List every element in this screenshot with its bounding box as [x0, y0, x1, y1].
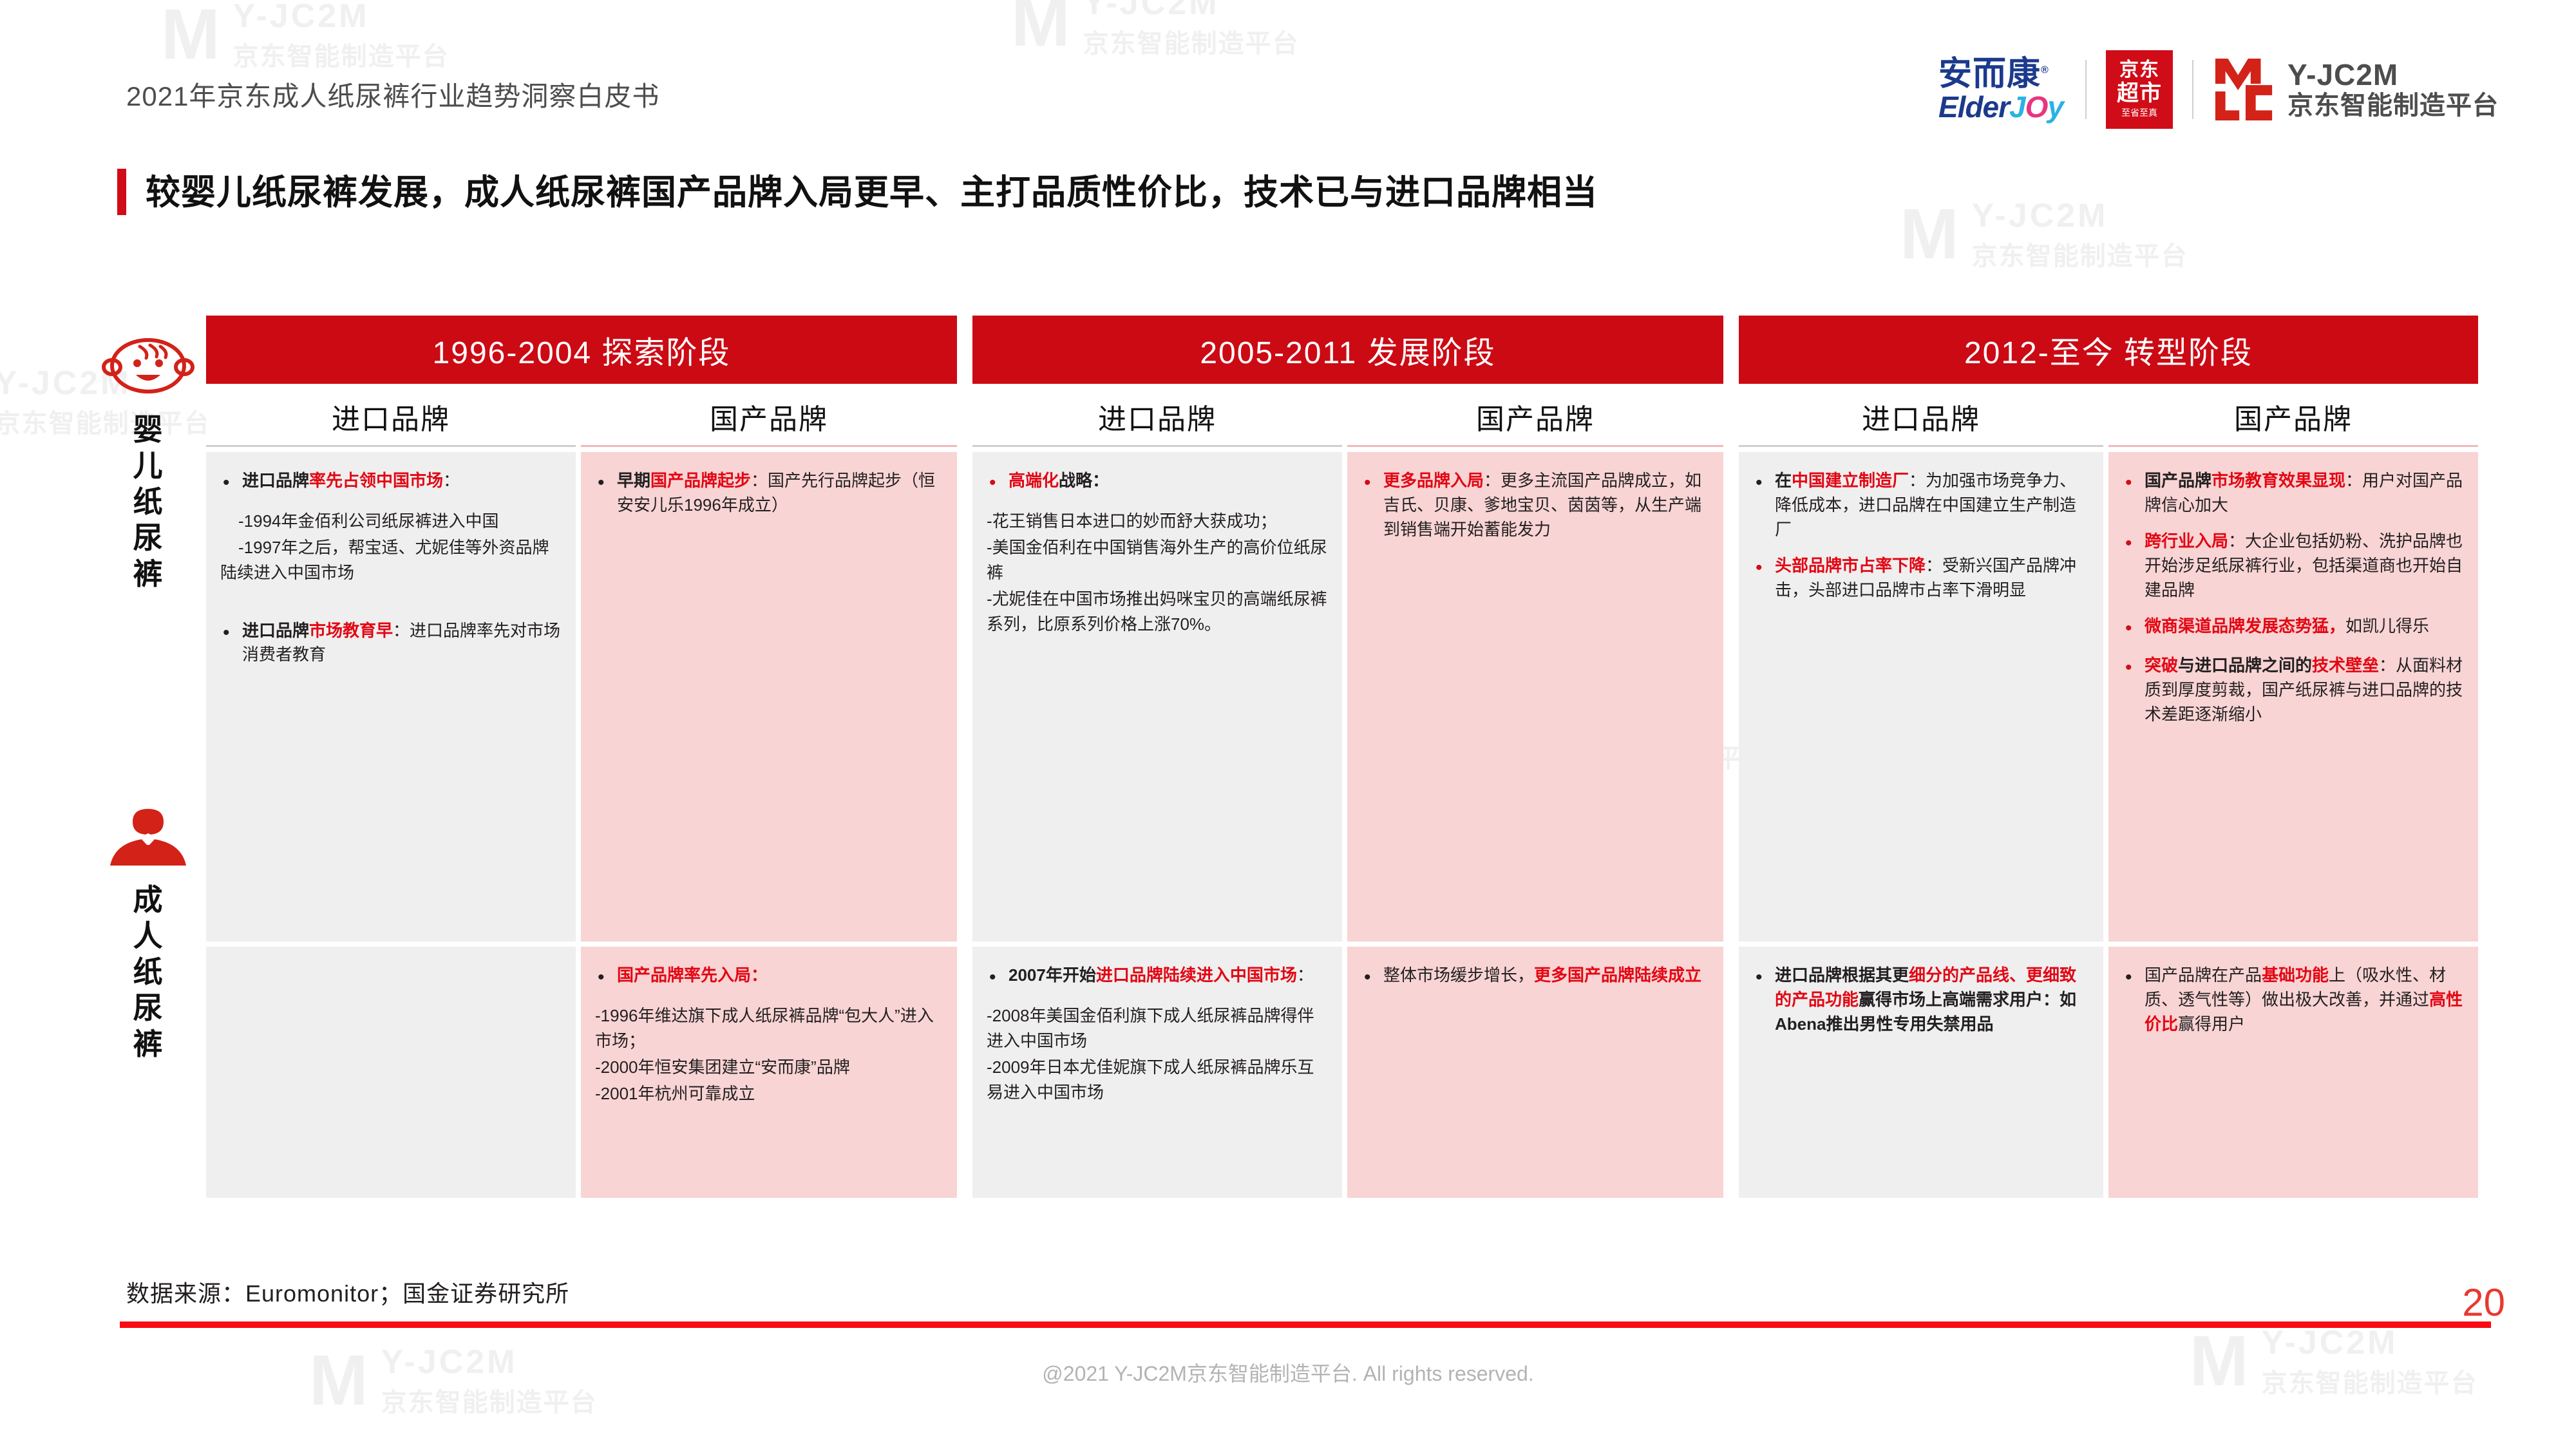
bullet-highlight: 更多品牌入局 [1383, 471, 1484, 490]
bullet-item: • 进口品牌根据其更细分的产品线、更细致的产品功能赢得市场上高端需求用户：如Ab… [1753, 963, 2089, 1037]
bullet-dot-icon: • [1361, 963, 1383, 992]
detail-line: -1996年维达旗下成人纸尿裤品牌“包大人”进入市场； [595, 1003, 943, 1054]
phase-column-2: 2005-2011 发展阶段 进口品牌 国产品牌 • 高端化战略： -花王销售日… [972, 316, 1723, 1198]
elderjoy-cn-text: 安而康 [1938, 55, 2041, 93]
bullet-item: • 微商渠道品牌发展态势猛，如凯儿得乐 [2123, 614, 2464, 643]
detail-line: -2009年日本尤佳妮旗下成人纸尿裤品牌乐互易进入中国市场 [987, 1055, 1328, 1105]
page-number: 20 [2462, 1280, 2505, 1325]
subheader-import-3: 进口品牌 [1739, 388, 2103, 447]
bullet-highlight: 微商渠道品牌发展态势猛， [2145, 616, 2345, 636]
bullet-dot-icon: • [2123, 654, 2145, 727]
headline-accent-bar [117, 169, 126, 215]
detail-lines: -2008年美国金佰利旗下成人纸尿裤品牌得伴进入中国市场 -2009年日本尤佳妮… [987, 1003, 1328, 1105]
cell-baby-domestic-2: • 更多品牌入局：更多主流国产品牌成立，如吉氏、贝康、爹地宝贝、茵茵等，从生产端… [1347, 452, 1723, 942]
cell-adult-domestic-1: • 国产品牌率先入局： -1996年维达旗下成人纸尿裤品牌“包大人”进入市场； … [581, 947, 957, 1198]
bullet-dot-icon: • [595, 963, 617, 992]
bullet-dot-icon: • [2123, 963, 2145, 1037]
watermark-en: Y-JC2M [1972, 196, 2188, 235]
yjc2m-logo: Y-JC2M 京东智能制造平台 [2213, 56, 2499, 123]
detail-lines: -花王销售日本进口的妙而舒大获成功； -美国金佰利在中国销售海外生产的高价位纸尿… [987, 509, 1328, 637]
jd-logo-line2: 超市 [2117, 81, 2162, 106]
bullet-dot-icon: • [220, 619, 242, 668]
subheader-domestic-1: 国产品牌 [581, 388, 957, 447]
bullet-lead: 早期 [617, 471, 650, 490]
bullet-dot-icon: • [595, 469, 617, 518]
bullet-item: • 国产品牌率先入局： [595, 963, 943, 992]
bullet-lead: 进口品牌 [242, 471, 309, 490]
bullet-highlight: 进口品牌陆续进入中国市场 [1096, 965, 1297, 985]
phase-column-3: 2012-至今 转型阶段 进口品牌 国产品牌 • 在中国建立制造厂：为加强市场竞… [1739, 316, 2478, 1198]
watermark-cn: 京东智能制造平台 [1972, 235, 2188, 272]
subheader-domestic-2: 国产品牌 [1347, 388, 1723, 447]
yjc2m-mark-icon [2213, 56, 2276, 123]
bullet-item: • 国产品牌市场教育效果显现：用户对国产品牌信心加大 [2123, 469, 2464, 518]
headline: 较婴儿纸尿裤发展，成人纸尿裤国产品牌入局更早、主打品质性价比，技术已与进口品牌相… [117, 169, 1598, 215]
bullet-item: • 头部品牌市占率下降：受新兴国产品牌冲击，头部进口品牌市占率下滑明显 [1753, 554, 2089, 603]
subheader-domestic-3: 国产品牌 [2108, 388, 2478, 447]
detail-lines: -1994年金佰利公司纸尿裤进入中国 -1997年之后，帮宝适、尤妮佳等外资品牌… [220, 509, 562, 585]
bullet-dot-icon: • [987, 469, 1009, 497]
cell-adult-import-3: • 进口品牌根据其更细分的产品线、更细致的产品功能赢得市场上高端需求用户：如Ab… [1739, 947, 2103, 1198]
cell-baby-domestic-3: • 国产品牌市场教育效果显现：用户对国产品牌信心加大 • 跨行业入局：大企业包括… [2108, 452, 2478, 942]
cell-baby-domestic-1: • 早期国产品牌起步：国产先行品牌起步（恒安安儿乐1996年成立） [581, 452, 957, 942]
row-label-baby-text: 婴儿纸尿裤 [128, 412, 169, 592]
bullet-lead: 在 [1775, 471, 1792, 490]
document-header: 2021年京东成人纸尿裤行业趋势洞察白皮书 安而康® ElderJOy 京东 超… [0, 0, 2576, 124]
bullet-highlight: 基础功能 [2262, 965, 2329, 985]
detail-lines: -1996年维达旗下成人纸尿裤品牌“包大人”进入市场； -2000年恒安集团建立… [595, 1003, 943, 1106]
yjc2m-en-text: Y-JC2M [2287, 59, 2499, 92]
cell-adult-domestic-3: • 国产品牌在产品基础功能上（吸水性、材质、透气性等）做出极大改善，并通过高性价… [2108, 947, 2478, 1198]
phase-comparison-board: 1996-2004 探索阶段 进口品牌 国产品牌 • 进口品牌率先占领中国市场：… [206, 316, 2491, 1198]
detail-line: -1997年之后，帮宝适、尤妮佳等外资品牌陆续进入中国市场 [220, 535, 562, 585]
bullet-highlight-b: 技术壁垒 [2312, 656, 2379, 675]
detail-line: -1994年金佰利公司纸尿裤进入中国 [220, 509, 562, 534]
cell-adult-import-2: • 2007年开始进口品牌陆续进入中国市场： -2008年美国金佰利旗下成人纸尿… [972, 947, 1342, 1198]
bullet-highlight-a: 突破 [2145, 656, 2178, 675]
bullet-lead: 国产品牌 [2145, 471, 2211, 490]
subheader-import-1: 进口品牌 [206, 388, 576, 447]
cell-adult-domestic-2: • 整体市场缓步增长，更多国产品牌陆续成立 [1347, 947, 1723, 1198]
bullet-highlight: 中国建立制造厂 [1792, 471, 1909, 490]
bullet-dot-icon: • [1753, 963, 1775, 1037]
bullet-item: • 突破与进口品牌之间的技术壁垒：从面料材质到厚度剪裁，国产纸尿裤与进口品牌的技… [2123, 654, 2464, 727]
row-label-adult: 成人纸尿裤 [90, 805, 206, 1063]
bullet-highlight: 高端化 [1009, 471, 1059, 490]
bullet-dot-icon: • [2123, 614, 2145, 643]
bullet-highlight: 国产品牌起步 [650, 471, 751, 490]
bullet-tail: ： [443, 471, 460, 490]
watermark-en: Y-JC2M [2262, 1323, 2478, 1362]
detail-line: -花王销售日本进口的妙而舒大获成功； [987, 509, 1328, 534]
elderjoy-en-text: Elder [1938, 90, 2009, 124]
logo-divider [2192, 60, 2193, 119]
bullet-item: • 整体市场缓步增长，更多国产品牌陆续成立 [1361, 963, 1709, 992]
bullet-tail: 赢得用户 [2178, 1014, 2245, 1034]
data-source-note: 数据来源：Euromonitor；国金证券研究所 [126, 1275, 569, 1309]
bullet-highlight: 更多国产品牌陆续成立 [1534, 965, 1701, 985]
bullet-dot-icon: • [987, 963, 1009, 992]
watermark: M Y-JC2M京东智能制造平台 [1900, 193, 2188, 275]
elderjoy-o-glyph: O [2025, 90, 2048, 124]
bullet-item: • 跨行业入局：大企业包括奶粉、洗护品牌也开始涉足纸尿裤行业，包括渠道商也开始自… [2123, 529, 2464, 603]
bullet-item: • 国产品牌在产品基础功能上（吸水性、材质、透气性等）做出极大改善，并通过高性价… [2123, 963, 2464, 1037]
bullet-highlight: 头部品牌市占率下降 [1775, 556, 1926, 575]
elderjoy-y-glyph: y [2047, 90, 2063, 124]
row-labels: 婴儿纸尿裤 成人纸尿裤 [90, 335, 206, 1062]
bullet-dot-icon: • [2123, 469, 2145, 518]
bullet-lead: 进口品牌 [242, 621, 309, 640]
bullet-item: • 更多品牌入局：更多主流国产品牌成立，如吉氏、贝康、爹地宝贝、茵茵等，从生产端… [1361, 469, 1709, 542]
headline-text: 较婴儿纸尿裤发展，成人纸尿裤国产品牌入局更早、主打品质性价比，技术已与进口品牌相… [146, 169, 1598, 215]
row-label-adult-text: 成人纸尿裤 [128, 882, 169, 1063]
bullet-item: • 早期国产品牌起步：国产先行品牌起步（恒安安儿乐1996年成立） [595, 469, 943, 518]
bullet-highlight: 国产品牌率先入局： [617, 965, 768, 985]
detail-line: -2001年杭州可靠成立 [595, 1081, 943, 1106]
phase-header-3: 2012-至今 转型阶段 [1739, 316, 2478, 384]
row-label-baby: 婴儿纸尿裤 [90, 335, 206, 592]
jd-logo-tagline: 至省至真 [2121, 106, 2157, 120]
bullet-lead: 进口品牌根据其更 [1775, 965, 1909, 985]
jd-logo-line1: 京东 [2119, 59, 2159, 81]
bullet-mid: 与进口品牌之间的 [2178, 656, 2312, 675]
cell-adult-import-1 [206, 947, 576, 1198]
bullet-tail: ： [1297, 965, 1314, 985]
bullet-highlight: 市场教育早 [309, 621, 393, 640]
bullet-item: • 高端化战略： [987, 469, 1328, 497]
detail-line: -美国金佰利在中国销售海外生产的高价位纸尿裤 [987, 535, 1328, 585]
bullet-item: • 进口品牌市场教育早：进口品牌率先对市场消费者教育 [220, 619, 562, 668]
bullet-dot-icon: • [1753, 469, 1775, 542]
bullet-tail: 如凯儿得乐 [2345, 616, 2429, 636]
logo-divider [2085, 60, 2087, 119]
logo-bar: 安而康® ElderJOy 京东 超市 至省至真 Y-JC2M 京东智能制造平台 [1938, 50, 2499, 129]
subheader-import-2: 进口品牌 [972, 388, 1342, 447]
baby-face-icon [100, 335, 196, 402]
registered-trademark-icon: ® [2041, 64, 2049, 75]
footer-rule [120, 1321, 2491, 1328]
cell-baby-import-1: • 进口品牌率先占领中国市场： -1994年金佰利公司纸尿裤进入中国 -1997… [206, 452, 576, 942]
bullet-tail: 战略： [1059, 471, 1109, 490]
jd-supermarket-logo: 京东 超市 至省至真 [2106, 50, 2173, 129]
phase-header-1: 1996-2004 探索阶段 [206, 316, 957, 384]
elderjoy-logo: 安而康® ElderJOy [1938, 57, 2085, 123]
bullet-highlight: 市场教育效果显现 [2211, 471, 2345, 490]
bullet-highlight: 跨行业入局 [2145, 531, 2228, 551]
bullet-lead: 整体市场缓步增长， [1383, 965, 1534, 985]
phase-header-2: 2005-2011 发展阶段 [972, 316, 1723, 384]
adult-person-icon [100, 805, 196, 873]
cell-baby-import-3: • 在中国建立制造厂：为加强市场竞争力、降低成本，进口品牌在中国建立生产制造厂 … [1739, 452, 2103, 942]
copyright-text: @2021 Y-JC2M京东智能制造平台. All rights reserve… [0, 1358, 2576, 1387]
phase-column-1: 1996-2004 探索阶段 进口品牌 国产品牌 • 进口品牌率先占领中国市场：… [206, 316, 957, 1198]
bullet-dot-icon: • [1753, 554, 1775, 603]
bullet-lead: 国产品牌在产品 [2145, 965, 2262, 985]
bullet-item: • 进口品牌率先占领中国市场： [220, 469, 562, 497]
cell-baby-import-2: • 高端化战略： -花王销售日本进口的妙而舒大获成功； -美国金佰利在中国销售海… [972, 452, 1342, 942]
bullet-lead: 2007年开始 [1009, 965, 1096, 985]
bullet-highlight: 率先占领中国市场 [309, 471, 443, 490]
page-title: 2021年京东成人纸尿裤行业趋势洞察白皮书 [126, 75, 659, 114]
bullet-dot-icon: • [1361, 469, 1383, 542]
detail-line: -2000年恒安集团建立“安而康”品牌 [595, 1055, 943, 1080]
bullet-dot-icon: • [220, 469, 242, 497]
bullet-dot-icon: • [2123, 529, 2145, 603]
bullet-item: • 在中国建立制造厂：为加强市场竞争力、降低成本，进口品牌在中国建立生产制造厂 [1753, 469, 2089, 542]
bullet-item: • 2007年开始进口品牌陆续进入中国市场： [987, 963, 1328, 992]
watermark-mark-icon: M [1900, 193, 1960, 275]
detail-line: -尤妮佳在中国市场推出妈咪宝贝的高端纸尿裤系列，比原系列价格上涨70%。 [987, 587, 1328, 637]
yjc2m-cn-text: 京东智能制造平台 [2287, 91, 2499, 120]
detail-line: -2008年美国金佰利旗下成人纸尿裤品牌得伴进入中国市场 [987, 1003, 1328, 1054]
elderjoy-j-glyph: J [2009, 90, 2025, 124]
